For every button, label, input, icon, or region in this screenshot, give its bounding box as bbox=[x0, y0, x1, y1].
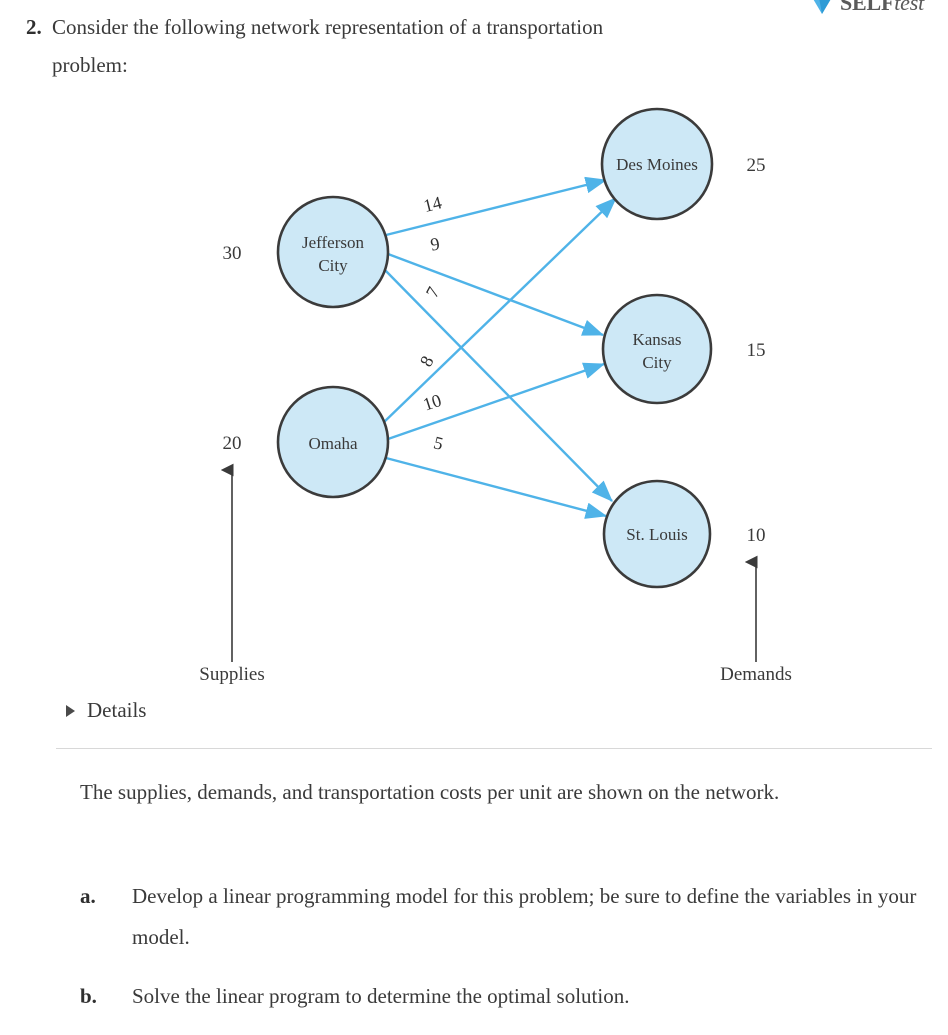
demands-axis: Demands bbox=[720, 562, 792, 685]
edge-omaha-st-louis bbox=[386, 458, 606, 516]
network-svg: 14 9 7 8 10 5 Jefferson City Omaha Des M… bbox=[0, 92, 948, 692]
demand-amounts: 25 15 10 bbox=[747, 155, 766, 546]
node-label-line1: Des Moines bbox=[616, 155, 698, 174]
list-item: b. Solve the linear program to determine… bbox=[0, 976, 948, 1017]
sub-question-text: Develop a linear programming model for t… bbox=[132, 876, 922, 958]
node-label-line2: City bbox=[318, 256, 348, 275]
node-label-line1: Kansas bbox=[632, 330, 681, 349]
edge-cost-labels: 14 9 7 8 10 5 bbox=[416, 192, 445, 454]
edge-jefferson-city-kansas-city bbox=[388, 254, 603, 335]
supply-amounts: 30 20 bbox=[223, 243, 242, 454]
question-prompt: Consider the following network represent… bbox=[52, 8, 652, 84]
intro-paragraph: The supplies, demands, and transportatio… bbox=[80, 772, 920, 813]
node-jefferson-city[interactable]: Jefferson City bbox=[278, 197, 388, 307]
demand-amount-des-moines: 25 bbox=[747, 155, 766, 176]
node-label-line1: Jefferson bbox=[302, 233, 364, 252]
node-st-louis[interactable]: St. Louis bbox=[604, 481, 710, 587]
transportation-network-figure: 14 9 7 8 10 5 Jefferson City Omaha Des M… bbox=[0, 92, 948, 692]
edge-cost-label: 8 bbox=[416, 353, 438, 370]
demand-amount-kansas-city: 15 bbox=[747, 340, 766, 361]
node-label-line2: City bbox=[642, 353, 672, 372]
destination-nodes: Des Moines Kansas City St. Louis bbox=[602, 109, 712, 587]
node-omaha[interactable]: Omaha bbox=[278, 387, 388, 497]
edge-cost-label: 7 bbox=[422, 284, 444, 301]
edge-cost-label: 5 bbox=[432, 432, 446, 454]
supplies-axis: Supplies bbox=[199, 470, 264, 685]
node-des-moines[interactable]: Des Moines bbox=[602, 109, 712, 219]
question-header: 2. Consider the following network repres… bbox=[0, 8, 948, 84]
supply-amount-jefferson-city: 30 bbox=[223, 243, 242, 264]
supplies-axis-label: Supplies bbox=[199, 664, 264, 685]
demand-amount-st-louis: 10 bbox=[747, 525, 766, 546]
origin-nodes: Jefferson City Omaha bbox=[278, 197, 388, 497]
sub-question-letter: b. bbox=[0, 976, 132, 1017]
edge-jefferson-city-des-moines bbox=[386, 180, 606, 235]
sub-question-letter: a. bbox=[0, 876, 132, 958]
supply-amount-omaha: 20 bbox=[223, 433, 242, 454]
question-number: 2. bbox=[0, 8, 52, 84]
network-edges bbox=[382, 180, 616, 516]
edge-omaha-kansas-city bbox=[388, 364, 604, 439]
node-kansas-city[interactable]: Kansas City bbox=[603, 295, 711, 403]
node-label-line1: St. Louis bbox=[626, 525, 687, 544]
edge-cost-label: 14 bbox=[421, 192, 443, 216]
edge-cost-label: 10 bbox=[420, 390, 443, 415]
section-divider bbox=[56, 748, 932, 749]
details-disclosure[interactable]: Details bbox=[66, 698, 146, 723]
details-label: Details bbox=[87, 698, 146, 723]
sub-question-list: a. Develop a linear programming model fo… bbox=[0, 876, 948, 1035]
edge-omaha-des-moines bbox=[382, 198, 616, 424]
list-item: a. Develop a linear programming model fo… bbox=[0, 876, 948, 958]
demands-axis-label: Demands bbox=[720, 664, 792, 685]
edge-cost-label: 9 bbox=[429, 233, 441, 254]
node-label-line1: Omaha bbox=[308, 434, 358, 453]
sub-question-text: Solve the linear program to determine th… bbox=[132, 976, 629, 1017]
chevron-right-icon bbox=[66, 705, 75, 717]
